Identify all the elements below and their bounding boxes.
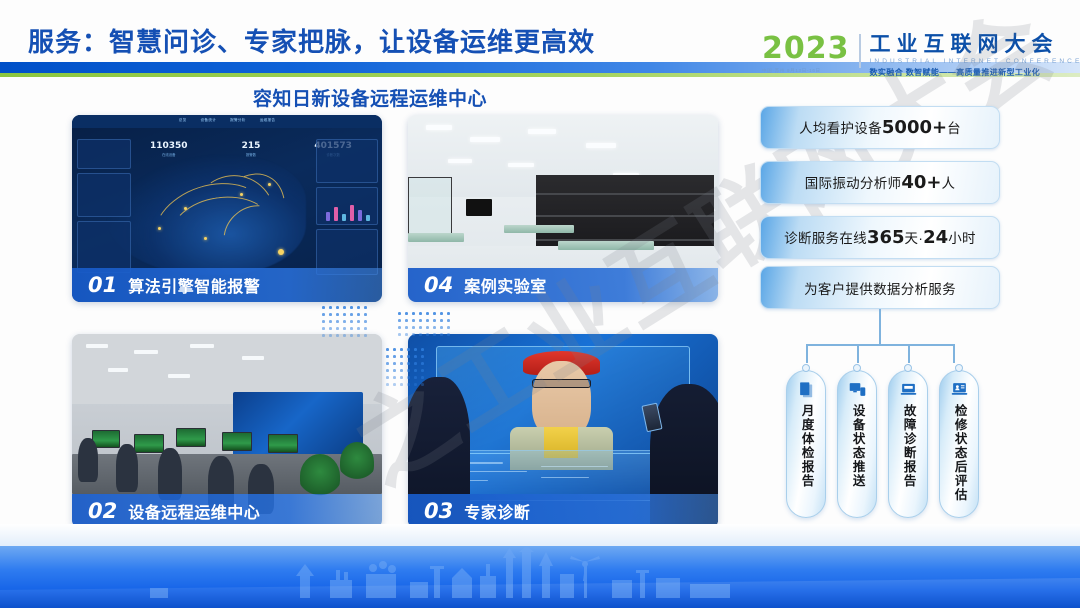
card-label: 案例实验室 [464,273,547,297]
glass-partition [408,177,452,237]
dashboard-nav: 总览 设备统计 报警分析 运维报告 [179,118,276,123]
operator-silhouette [158,448,182,500]
wall-monitor [466,199,492,216]
connector-drop [857,344,859,363]
card-number: 01 [88,273,117,297]
pill-maintenance-eval[interactable]: 检修状态后评估 [939,370,979,518]
map-node [204,237,207,240]
ceiling-light [448,159,472,163]
page-subtitle: 容知日新设备远程运维中心 [0,84,740,111]
ceiling-light [528,129,556,134]
map-hub-node [278,249,284,255]
ceiling-light [134,350,158,354]
pill-fault-report[interactable]: 故障诊断报告 [888,370,928,518]
operator-silhouette [78,438,98,482]
card-caption: 01 算法引擎智能报警 [72,268,382,302]
map-node [240,193,243,196]
dashboard-panel-left-top [77,139,131,169]
work-bench [504,225,574,233]
card-number: 04 [424,273,453,297]
card-label: 设备远程运维中心 [128,499,260,523]
kpi-label: 在线设备 [150,152,188,157]
kpi-label: 报警数 [242,152,261,157]
eyeglasses [532,379,591,389]
card-case-laboratory[interactable]: 04 案例实验室 [408,115,718,302]
footer-band [0,546,1080,608]
connector-drop [908,344,910,363]
pill-cap [802,364,810,372]
rack-shelf [536,215,714,217]
pill-label: 设备状态推送 [850,404,863,488]
logo-year: 2023 [762,34,850,64]
card-label: 算法引擎智能报警 [128,273,260,297]
ceiling-light [242,356,264,360]
card-remote-ops-center[interactable]: 02 设备远程运维中心 [72,334,382,528]
infobox-service-uptime: 诊断服务在线365天·24小时 [760,216,1000,259]
logo-tagline: 数实融合 数智赋能——高质量推进新型工业化 [870,67,1080,78]
infobox-devices-per-person: 人均看护设备5000+台 [760,106,1000,149]
pill-label: 故障诊断报告 [901,404,914,488]
connector-drop [953,344,955,363]
indoor-plant [300,454,340,498]
laptop-user-icon [951,381,968,398]
kpi-value: 110350 [150,141,188,151]
ceiling-light [470,137,500,142]
dashboard-kpi: 215 报警数 [242,141,261,157]
infobox-text: 为客户提供数据分析服务 [804,278,956,298]
conference-logo: 2023 中国·苏州 9月13日-16日 工业互联网大会 INDUSTRIAL … [762,34,1080,78]
card-caption: 04 案例实验室 [408,268,718,302]
logo-year-block: 2023 中国·苏州 9月13日-16日 [762,34,850,74]
map-node [184,207,187,210]
connector-drop [806,344,808,363]
infobox-text: 诊断服务在线365天·24小时 [784,227,976,248]
dashboard-bar-chart [326,203,370,221]
card-expert-diagnosis[interactable]: 03 专家诊断 [408,334,718,528]
pill-cap [904,364,912,372]
card-label: 专家诊断 [464,499,530,523]
dashboard-nav-item: 设备统计 [201,118,217,123]
workstation-screen [176,428,206,447]
slide-root: 服务：智慧问诊、专家把脉，让设备运维更高效 容知日新设备远程运维中心 2023 … [0,0,1080,608]
ceiling-light [108,368,128,372]
pill-status-push[interactable]: 设备状态推送 [837,370,877,518]
pill-cap [853,364,861,372]
card-number: 03 [424,499,453,523]
workstation-screen [134,434,164,453]
card-caption: 02 设备远程运维中心 [72,494,382,528]
map-node [158,227,161,230]
pill-monthly-report[interactable]: 月度体检报告 [786,370,826,518]
card-caption: 03 专家诊断 [408,494,718,528]
logo-name-block: 工业互联网大会 INDUSTRIAL INTERNET CONFERENCE 数… [870,34,1080,78]
laptop-icon [900,381,917,398]
dashboard-nav-item: 报警分析 [230,118,246,123]
dashboard-nav-item: 运维报告 [260,118,276,123]
ceiling-light [586,143,616,148]
workstation-screen [222,432,252,451]
work-bench [408,233,464,242]
ceiling-light [190,344,214,348]
logo-year-sub: 中国·苏州 9月13日-16日 [762,68,850,74]
logo-name-cn: 工业互联网大会 [870,34,1080,55]
logo-name-en: INDUSTRIAL INTERNET CONFERENCE [870,58,1080,65]
dashboard-panel-left-bottom [77,221,131,273]
dashboard-panel-right-top [316,139,378,183]
infobox-data-analysis-service: 为客户提供数据分析服务 [760,266,1000,309]
card-number: 02 [88,499,117,523]
connector-stem [879,309,881,345]
infobox-text: 国际振动分析师40+人 [805,172,956,193]
monitor-phone-icon [849,381,866,398]
document-icon [798,381,815,398]
work-bench [558,241,654,250]
infobox-text: 人均看护设备5000+台 [799,117,961,138]
indoor-plant [340,442,374,482]
page-title: 服务：智慧问诊、专家把脉，让设备运维更高效 [28,22,595,59]
dashboard-nav-item: 总览 [179,118,187,123]
dashboard-kpi: 110350 在线设备 [150,141,188,157]
card-algorithm-alarm[interactable]: 总览 设备统计 报警分析 运维报告 110350 在线设备 215 报警数 40… [72,115,382,302]
pill-label: 月度体检报告 [799,404,812,488]
rack-shelf [536,193,714,195]
workstation-screen [268,434,298,453]
ceiling-light [426,125,452,130]
map-node [268,183,271,186]
ceiling-light [168,374,190,378]
operator-silhouette [116,444,138,492]
dashboard-panel-left-mid [77,173,131,217]
ceiling-light [86,344,108,348]
pill-label: 检修状态后评估 [952,404,965,502]
connector-bar [806,344,954,346]
infobox-vibration-analysts: 国际振动分析师40+人 [760,161,1000,204]
footer-gradient-top [0,524,1080,546]
pill-cap [955,364,963,372]
logo-divider [859,34,861,68]
ceiling-light [508,163,534,167]
kpi-value: 215 [242,141,261,151]
